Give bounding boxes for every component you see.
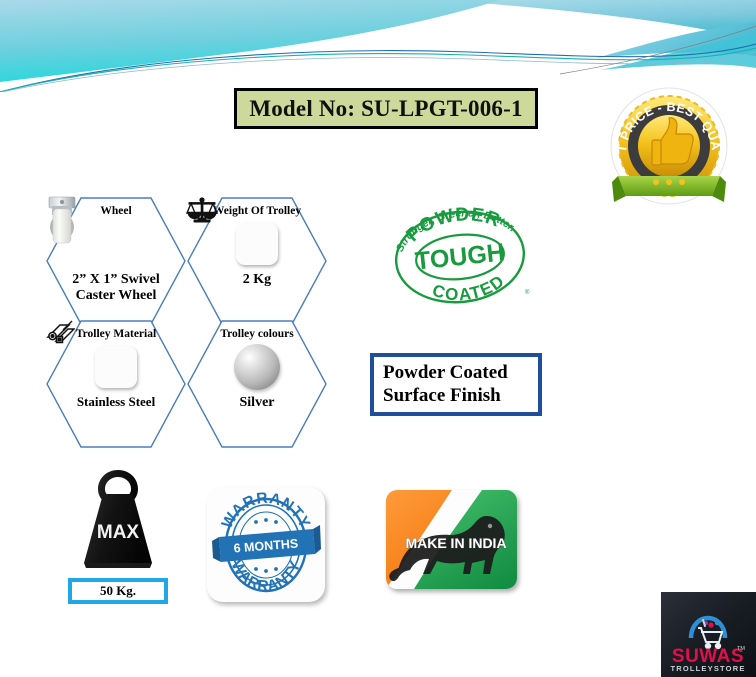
max-load-value: 50 Kg. xyxy=(100,583,136,599)
suwas-trolleystore-logo: SUWAS TM TROLLEYSTORE xyxy=(661,592,756,677)
svg-text:WARRANTY: WARRANTY xyxy=(227,557,304,595)
spec-value: 2 Kg xyxy=(243,272,271,288)
spec-hex-weight: Weight Of Trolley xyxy=(186,196,328,326)
max-label: MAX xyxy=(97,522,140,543)
suwas-trademark: TM xyxy=(737,646,745,652)
svg-text:COATED: COATED xyxy=(428,270,510,308)
suwas-subtitle: TROLLEYSTORE xyxy=(670,664,745,673)
spec-hexagon-grid: Wheel xyxy=(45,196,345,446)
spec-value: 2” X 1” Swivel Caster Wheel xyxy=(72,272,160,303)
best-price-best-quality-badge: BEST PRICE - BEST QUALITY xyxy=(604,84,734,214)
max-load-value-box: 50 Kg. xyxy=(68,578,168,604)
weight-block-icon: MAX xyxy=(72,466,164,571)
header-wave-banner xyxy=(0,0,756,92)
wave-shape-main xyxy=(0,0,500,82)
product-spec-sheet: Model No: SU-LPGT-006-1 xyxy=(0,0,756,677)
make-in-india-label: MAKE IN INDIA xyxy=(405,535,506,551)
finish-line-1: Powder Coated xyxy=(383,362,508,384)
badge-stars xyxy=(653,179,685,185)
spec-hex-colour: Trolley colours Silver xyxy=(186,319,328,449)
spec-title: Wheel xyxy=(100,205,131,217)
model-number-label: Model No: SU-LPGT-006-1 xyxy=(249,96,522,122)
spec-title: Trolley colours xyxy=(220,328,293,340)
powder-tough-coated-logo: Stronger, Greener, Better. POWDER TOUGH … xyxy=(384,198,536,316)
powder-word-bottom: COATED xyxy=(428,270,510,308)
silver-sphere-icon xyxy=(234,344,280,390)
spec-title: Weight Of Trolley xyxy=(213,205,301,217)
powder-coated-surface-finish-box: Powder Coated Surface Finish xyxy=(370,353,542,416)
registered-mark: ® xyxy=(525,289,530,296)
make-in-india-badge: MAKE IN INDIA xyxy=(386,490,517,589)
spec-title: Trolley Material xyxy=(76,328,156,340)
spec-value: Silver xyxy=(240,395,275,411)
spec-hex-material: Trolley Material xyxy=(45,319,187,449)
warranty-arc-bottom: WARRANTY xyxy=(227,557,304,595)
finish-line-2: Surface Finish xyxy=(383,385,501,407)
steel-pipes-icon xyxy=(95,346,137,388)
spec-hex-wheel: Wheel xyxy=(45,196,187,326)
balance-scale-icon xyxy=(236,223,278,265)
model-number-box: Model No: SU-LPGT-006-1 xyxy=(234,88,538,129)
spec-value: Stainless Steel xyxy=(77,395,155,410)
warranty-card: WARRANTY WARRANTY 6 MONTHS xyxy=(207,487,325,602)
